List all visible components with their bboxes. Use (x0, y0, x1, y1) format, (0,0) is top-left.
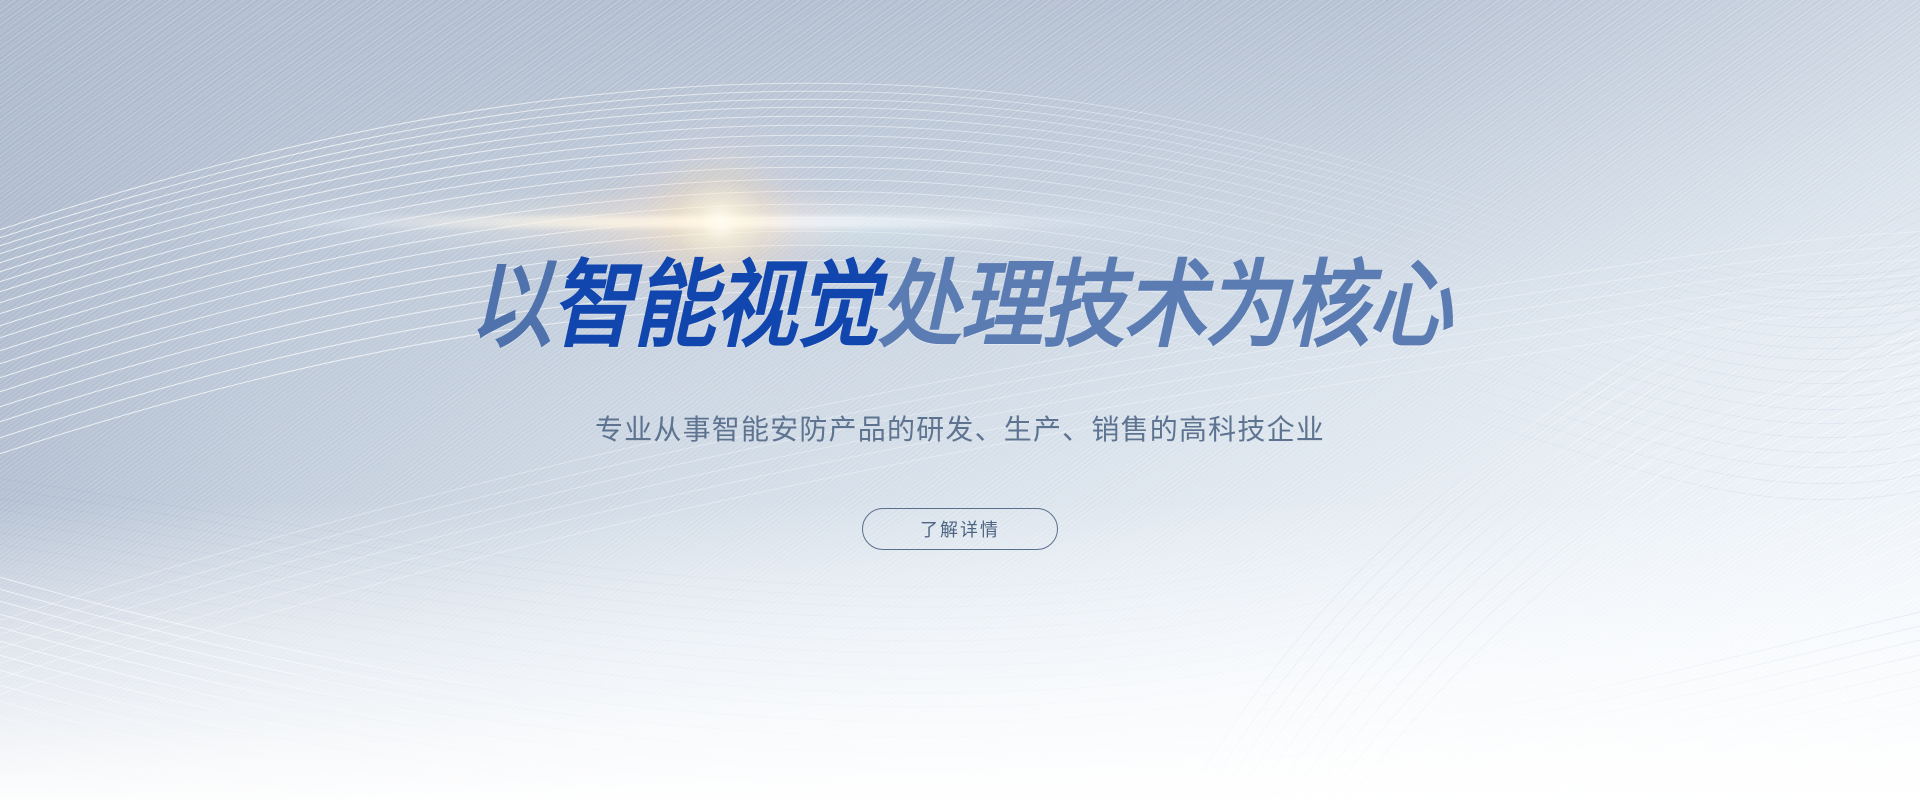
hero-cta-wrapper: 了解详情 (0, 508, 1920, 550)
headline-segment-2: 智能视觉 (551, 252, 878, 359)
hero-content: 以智能视觉处理技术为核心 专业从事智能安防产品的研发、生产、销售的高科技企业 了… (0, 0, 1920, 800)
hero-banner: 以智能视觉处理技术为核心 专业从事智能安防产品的研发、生产、销售的高科技企业 了… (0, 0, 1920, 800)
hero-subtitle: 专业从事智能安防产品的研发、生产、销售的高科技企业 (0, 413, 1920, 447)
headline-segment-1: 以 (469, 252, 551, 359)
headline-segment-3: 处理技术为核心 (878, 252, 1450, 359)
hero-headline: 以智能视觉处理技术为核心 (58, 258, 1863, 353)
learn-more-button[interactable]: 了解详情 (862, 508, 1058, 550)
